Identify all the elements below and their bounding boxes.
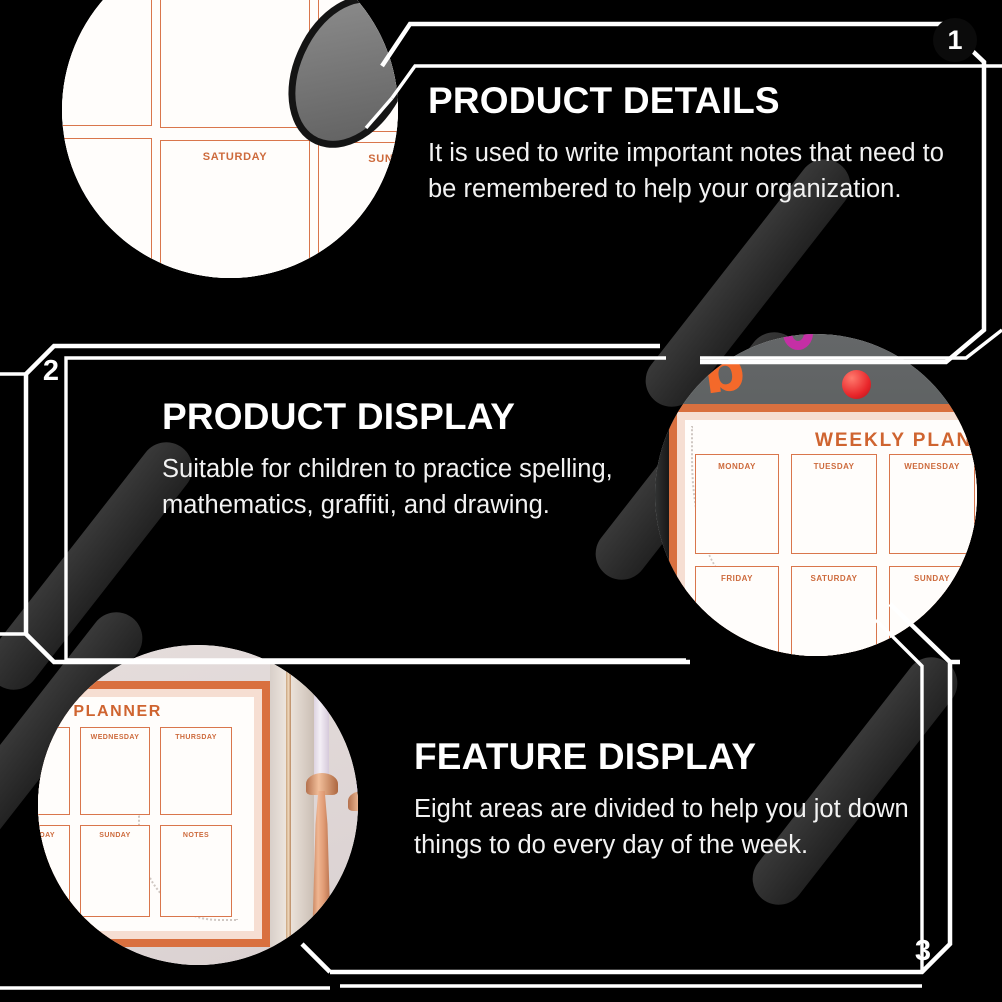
planner-cell-label: WEDNESDAY: [890, 462, 974, 471]
letter-magnet-b: b: [699, 339, 748, 402]
planner-cell-label: DAY: [38, 734, 69, 741]
round-magnet-red: [842, 370, 871, 399]
planner-cell: SUNDAY: [80, 825, 150, 917]
planner-cell-label: NOTES: [161, 832, 231, 839]
photo-planner-on-wall: EKLY PLANNER DAY WEDNESDAY THURSDAY ATUR…: [38, 645, 358, 965]
infographic-canvas: WEEKLY PLANNER TUESDAY WEDNESDAY SATURDA…: [0, 0, 1002, 1002]
planner-cell: TUESDAY: [791, 454, 877, 554]
planner-cell-label: SATURDAY: [792, 574, 876, 583]
planner-title: WEEKLY PLANNER: [815, 430, 977, 452]
planner-cell-label: WEDNESDAY: [81, 734, 149, 741]
step-badge-3: 3: [906, 932, 940, 970]
planner-cell: SUNDAY: [318, 142, 398, 278]
step-badge-2: 2: [34, 352, 68, 390]
section-3-body: Eight areas are divided to help you jot …: [414, 792, 934, 863]
planner-cell-label: SUNDAY: [81, 832, 149, 839]
planner-cell: [62, 138, 152, 278]
planner-cell-label: THURSDAY: [161, 734, 231, 741]
candle-short: [356, 689, 358, 799]
candle-tall: [314, 665, 329, 781]
planner-cell: WEDNESDAY: [889, 454, 975, 554]
door-frame-strip: [270, 645, 314, 965]
planner-cell: DAY: [38, 727, 70, 815]
planner-cell-label: TUESDAY: [792, 462, 876, 471]
planner-cell: ATURDAY: [38, 825, 70, 917]
planner-cell-label: SUNDAY: [890, 574, 974, 583]
planner-cell-label: SUNDAY: [319, 153, 398, 165]
planner-cell: TUESDAY: [160, 0, 310, 128]
planner-cell: NOTES: [160, 825, 232, 917]
planner-cell-label: MONDAY: [696, 462, 778, 471]
step-badge-1: 1: [933, 18, 977, 62]
section-2-body: Suitable for children to practice spelli…: [162, 452, 632, 523]
planner-cell: FRIDAY: [695, 566, 779, 656]
planner-cell: SATURDAY: [791, 566, 877, 656]
photo-planner-grid-closeup: WEEKLY PLANNER TUESDAY WEDNESDAY SATURDA…: [62, 0, 398, 278]
planner-cell: [62, 0, 152, 126]
gold-trim-line: [286, 645, 291, 965]
planner-title: EKLY PLANNER: [38, 703, 162, 721]
planner-cell: THURSDAY: [160, 727, 232, 815]
planner-cell-label: SATURDAY: [161, 151, 309, 163]
section-1-body: It is used to write important notes that…: [428, 136, 958, 207]
section-2-title: PRODUCT DISPLAY: [162, 396, 632, 438]
planner-cell: SATURDAY: [160, 140, 310, 278]
planner-cell-label: FRIDAY: [696, 574, 778, 583]
section-3-title: FEATURE DISPLAY: [414, 736, 934, 778]
section-1-title: PRODUCT DETAILS: [428, 80, 958, 122]
section-1-text: PRODUCT DETAILS It is used to write impo…: [428, 80, 958, 207]
section-2-text: PRODUCT DISPLAY Suitable for children to…: [162, 396, 632, 523]
planner-cell: SUNDAY: [889, 566, 975, 656]
planner-cell: MONDAY: [695, 454, 779, 554]
photo-planner-on-fridge: b WEEKLY PLANNER MONDAY TUESDAY WEDNESDA…: [655, 334, 977, 656]
section-3-text: FEATURE DISPLAY Eight areas are divided …: [414, 736, 934, 863]
planner-cell-label: ATURDAY: [38, 832, 69, 839]
planner-cell: WEDNESDAY: [80, 727, 150, 815]
